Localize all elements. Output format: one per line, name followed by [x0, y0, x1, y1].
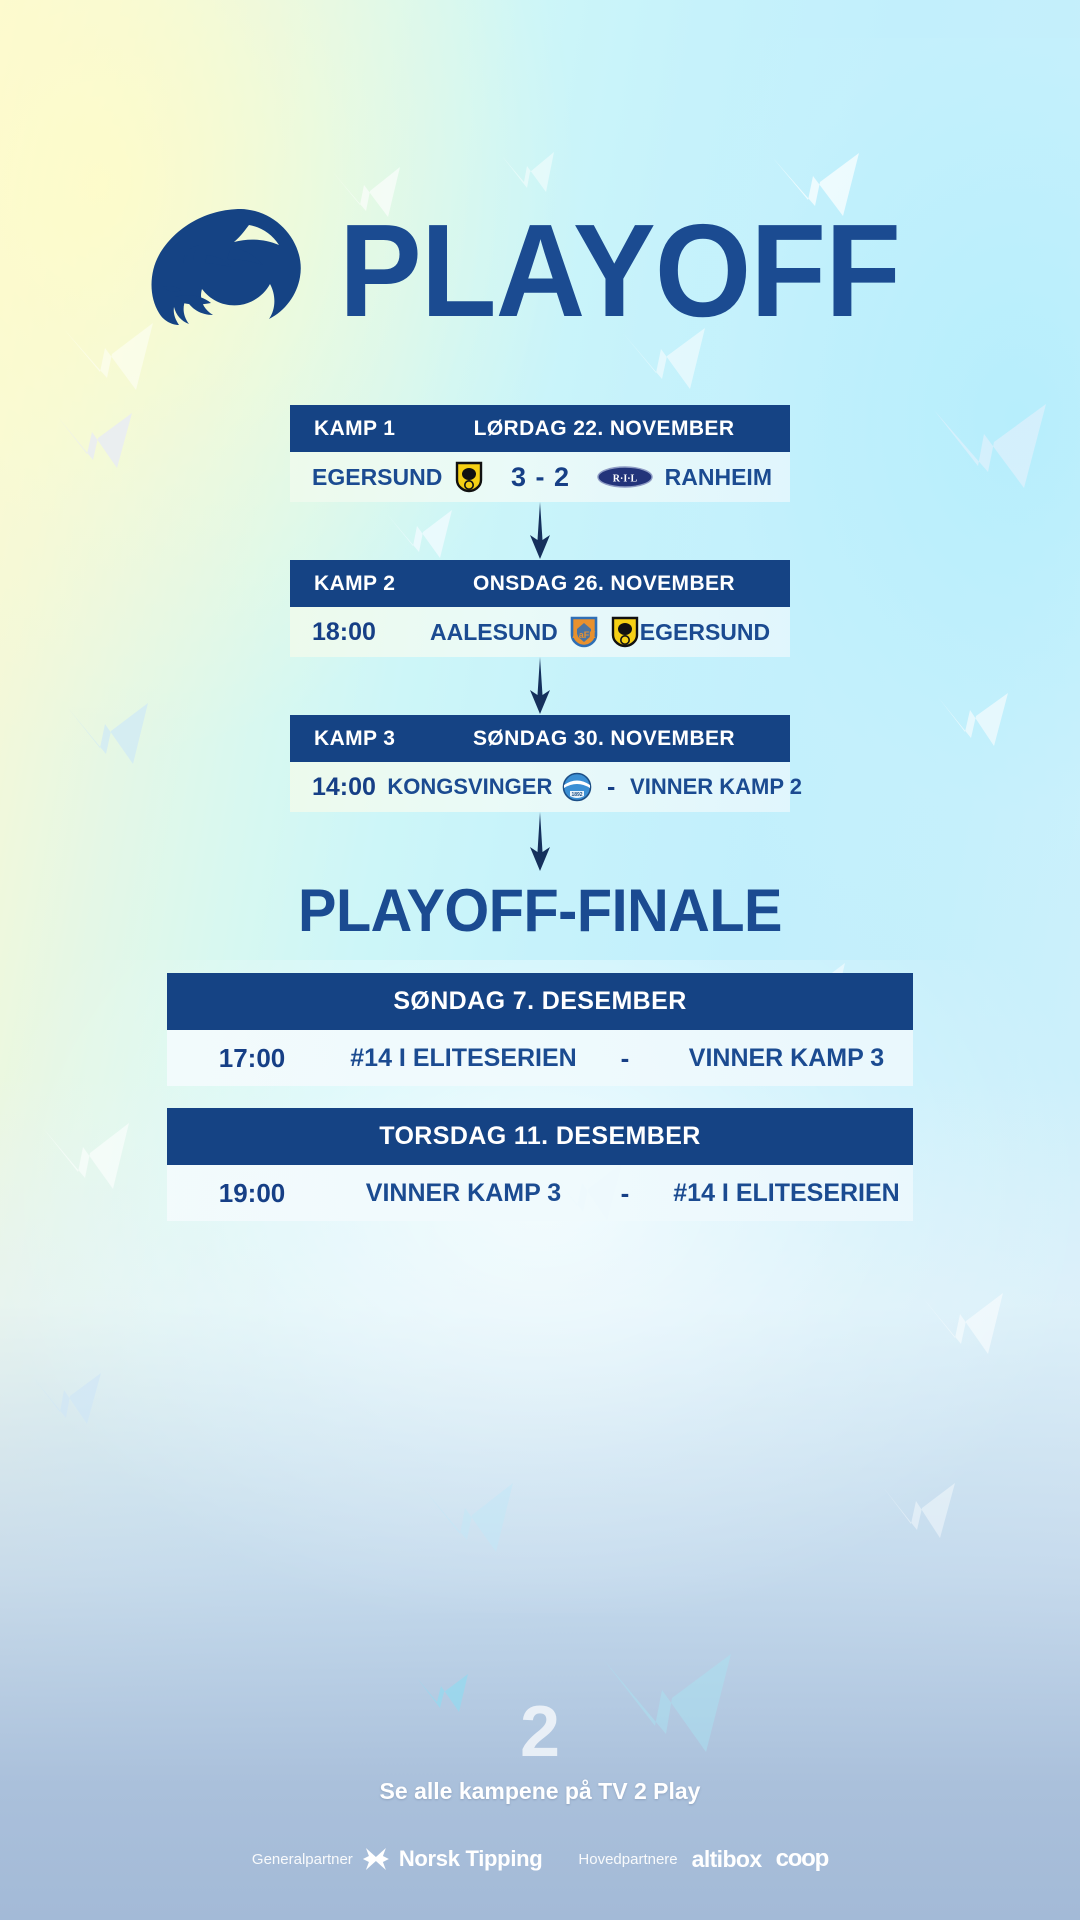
match-header: KAMP 2 ONSDAG 26. NOVEMBER	[290, 560, 790, 607]
match-label: KAMP 2	[290, 572, 440, 596]
home-team-name: KONGSVINGER	[387, 774, 552, 800]
match-score: 3 - 2	[511, 462, 570, 493]
chevron-decor-icon	[880, 1480, 958, 1552]
finale-leg-card[interactable]: TORSDAG 11. DESEMBER 19:00 VINNER KAMP 3…	[167, 1108, 913, 1221]
bracket-arrow-icon	[290, 812, 790, 876]
lion-head-icon	[145, 201, 313, 341]
finale-time: 19:00	[167, 1178, 337, 1209]
finale-date: SØNDAG 7. DESEMBER	[167, 973, 913, 1030]
bracket-arrow-icon	[290, 657, 790, 715]
match-card[interactable]: KAMP 1 LØRDAG 22. NOVEMBER EGERSUND 3 - …	[290, 405, 790, 502]
finale-title: PLAYOFF-FINALE	[22, 876, 1059, 945]
away-team-name: EGERSUND	[640, 619, 770, 646]
bracket-section: KAMP 1 LØRDAG 22. NOVEMBER EGERSUND 3 - …	[0, 405, 1080, 1221]
away-team-name: VINNER KAMP 2	[630, 774, 802, 800]
finale-leg-card[interactable]: SØNDAG 7. DESEMBER 17:00 #14 I ELITESERI…	[167, 973, 913, 1086]
match-date: LØRDAG 22. NOVEMBER	[440, 417, 790, 441]
svg-text:R·I·L: R·I·L	[612, 474, 637, 485]
sponsor-hovedpartnere: Hovedpartnere altibox coop	[578, 1845, 828, 1873]
sponsor-label: Hovedpartnere	[578, 1851, 677, 1868]
match-date: ONSDAG 26. NOVEMBER	[440, 572, 790, 596]
match-time: 18:00	[312, 618, 376, 647]
ranheim-badge-icon: R·I·L	[597, 466, 653, 488]
chevron-decor-icon	[920, 1290, 1006, 1368]
finale-dash: -	[590, 1178, 660, 1209]
finale-dash: -	[590, 1043, 660, 1074]
finale-time: 17:00	[167, 1043, 337, 1074]
poster-root: PLAYOFF KAMP 1 LØRDAG 22. NOVEMBER EGERS…	[0, 0, 1080, 1920]
aalesund-badge-icon: AaFK	[569, 616, 599, 648]
poster-header: PLAYOFF	[0, 196, 1080, 346]
altibox-logo: altibox	[692, 1846, 762, 1873]
egersund-badge-icon	[610, 616, 640, 648]
match-date: SØNDAG 30. NOVEMBER	[440, 727, 790, 751]
kongsvinger-badge-icon: 1892	[562, 772, 592, 802]
sponsor-generalpartner: Generalpartner Norsk Tipping	[252, 1846, 543, 1872]
coop-logo: coop	[776, 1845, 829, 1873]
footer-tagline: Se alle kampene på TV 2 Play	[380, 1778, 701, 1805]
match-label: KAMP 3	[290, 727, 440, 751]
match-card[interactable]: KAMP 2 ONSDAG 26. NOVEMBER 18:00 AALESUN…	[290, 560, 790, 657]
chevron-decor-icon	[500, 150, 556, 202]
svg-text:AaFK: AaFK	[572, 630, 596, 640]
egersund-badge-icon	[454, 461, 484, 493]
away-team-name: RANHEIM	[665, 464, 772, 491]
home-team-name: AALESUND	[430, 619, 558, 646]
sponsor-label: Generalpartner	[252, 1851, 353, 1868]
bracket-arrow-icon	[290, 502, 790, 560]
finale-body: 19:00 VINNER KAMP 3 - #14 I ELITESERIEN	[167, 1165, 913, 1221]
match-card[interactable]: KAMP 3 SØNDAG 30. NOVEMBER 14:00 KONGSVI…	[290, 715, 790, 812]
sponsor-logo: Norsk Tipping	[399, 1846, 543, 1872]
chevron-decor-icon	[420, 1480, 516, 1568]
match-dash: -	[607, 773, 615, 802]
finale-away-team: VINNER KAMP 3	[660, 1044, 913, 1073]
match-body: 14:00 KONGSVINGER 1892 - VINNER KAMP 2	[290, 762, 790, 812]
poster-footer: 2 Se alle kampene på TV 2 Play Generalpa…	[0, 1640, 1080, 1920]
svg-text:1892: 1892	[572, 792, 583, 798]
page-title: PLAYOFF	[339, 214, 900, 328]
match-label: KAMP 1	[290, 417, 440, 441]
norsk-tipping-x-icon	[363, 1846, 389, 1872]
finale-date: TORSDAG 11. DESEMBER	[167, 1108, 913, 1165]
finale-home-team: #14 I ELITESERIEN	[337, 1044, 590, 1073]
match-header: KAMP 1 LØRDAG 22. NOVEMBER	[290, 405, 790, 452]
match-time: 14:00	[312, 773, 376, 802]
sponsor-bar: Generalpartner Norsk Tipping Hovedpartne…	[252, 1845, 828, 1873]
match-body: 18:00 AALESUND AaFK EGERSUND	[290, 607, 790, 657]
finale-body: 17:00 #14 I ELITESERIEN - VINNER KAMP 3	[167, 1030, 913, 1086]
home-team-name: EGERSUND	[312, 464, 442, 491]
tv2-logo: 2	[520, 1696, 560, 1768]
match-header: KAMP 3 SØNDAG 30. NOVEMBER	[290, 715, 790, 762]
match-body: EGERSUND 3 - 2 R·I·L RANHEIM	[290, 452, 790, 502]
chevron-decor-icon	[30, 1370, 104, 1438]
finale-away-team: #14 I ELITESERIEN	[660, 1179, 913, 1208]
finale-home-team: VINNER KAMP 3	[337, 1179, 590, 1208]
